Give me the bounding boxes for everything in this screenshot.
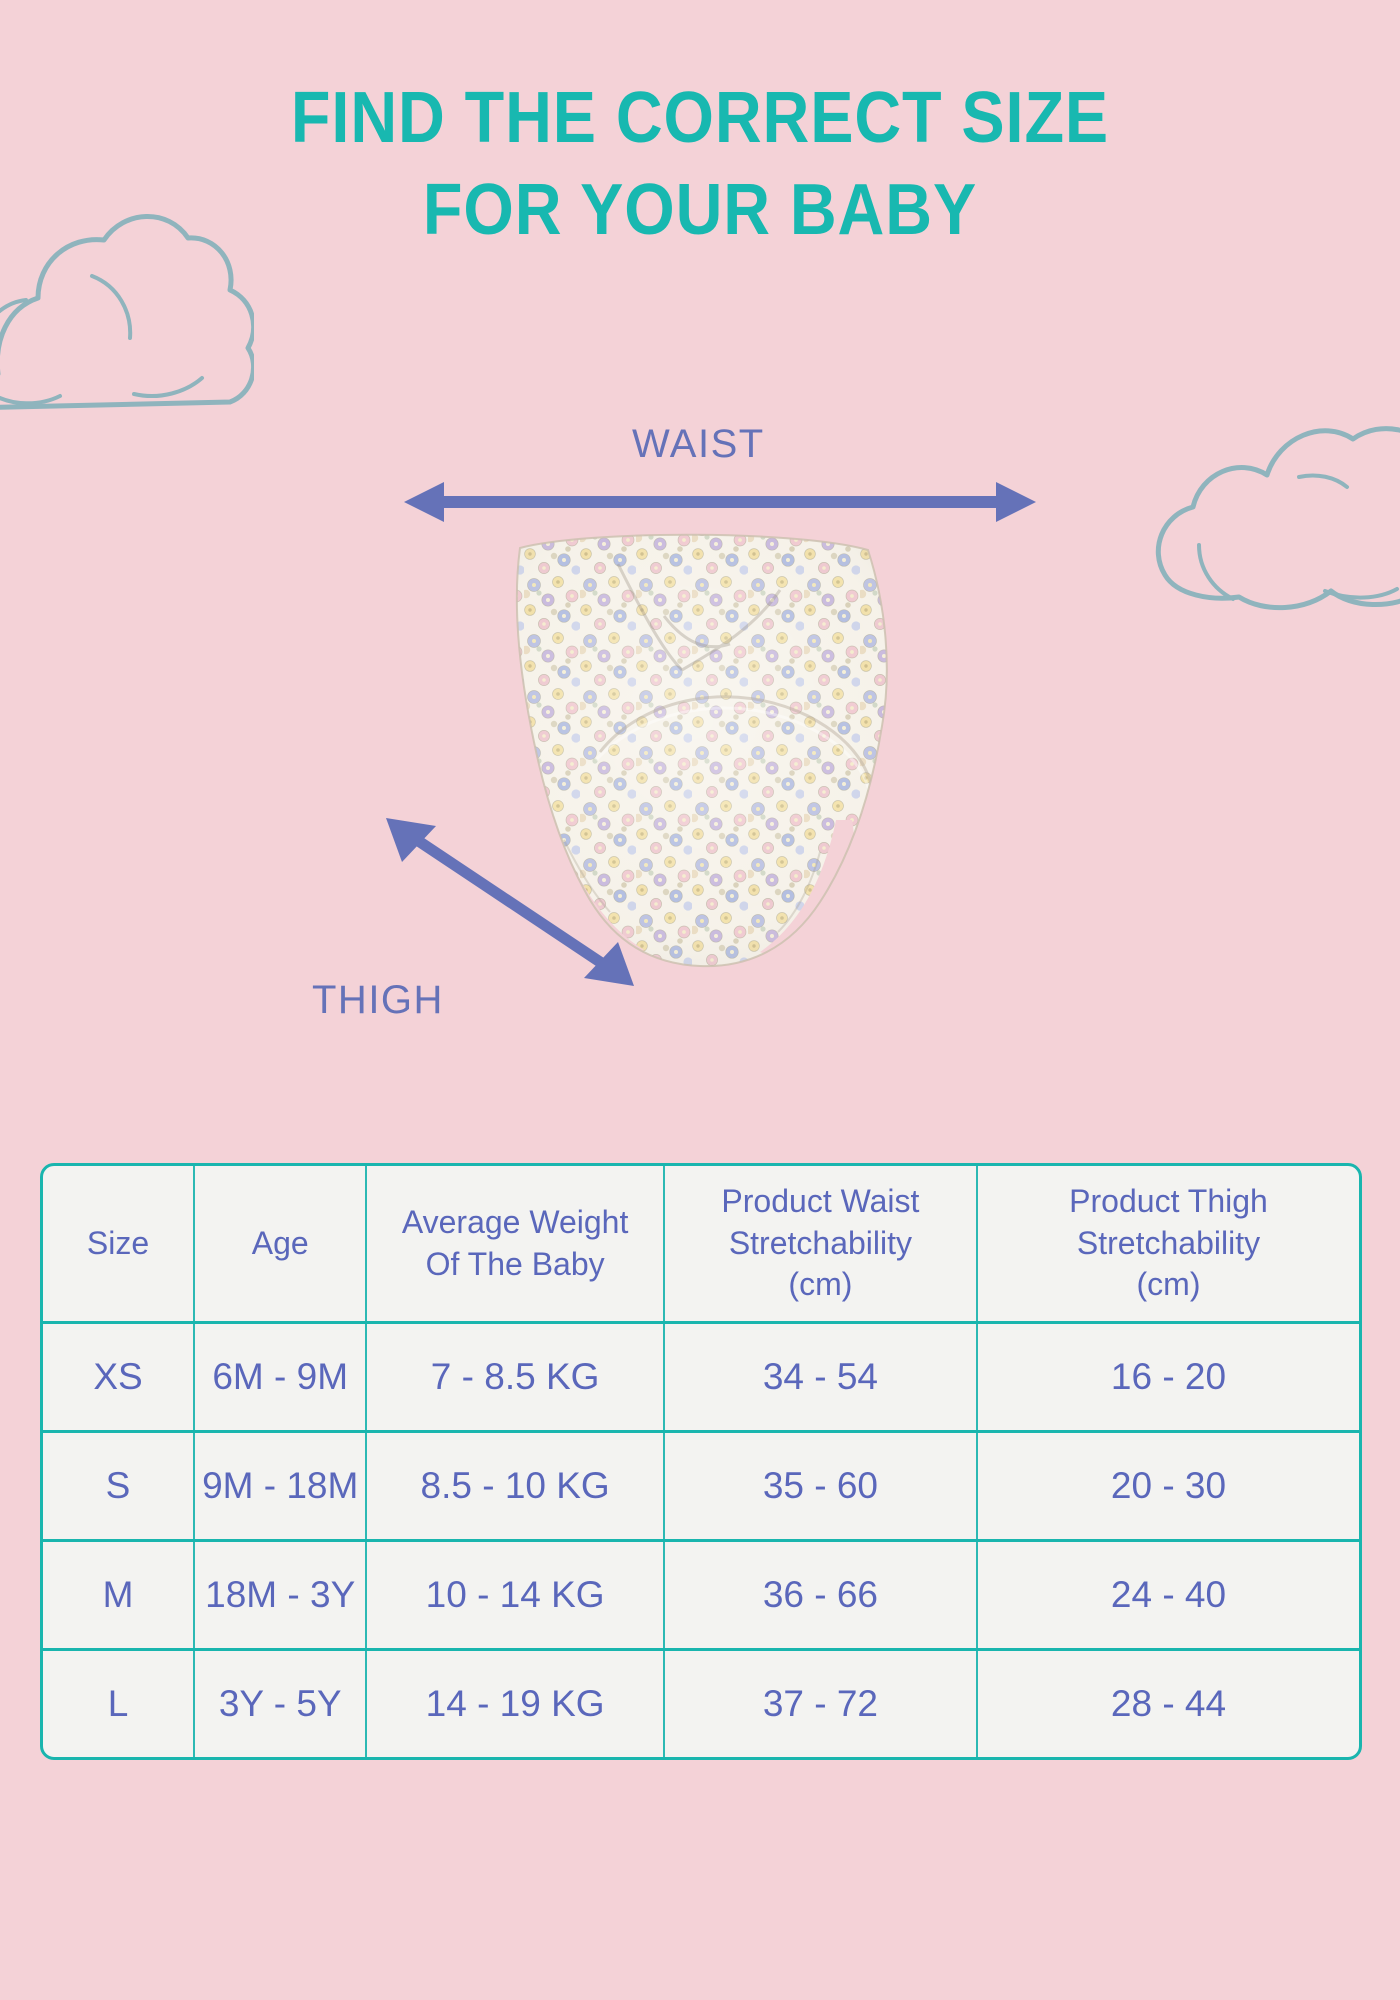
cell-waist: 34 - 54 (663, 1324, 976, 1430)
cell-weight: 7 - 8.5 KG (365, 1324, 662, 1430)
cell-waist: 36 - 66 (663, 1542, 976, 1648)
header-cell-thigh-stretch: Product Thigh Stretchability (cm) (976, 1166, 1359, 1321)
table-row: L 3Y - 5Y 14 - 19 KG 37 - 72 28 - 44 (43, 1648, 1359, 1757)
cloud-decoration-right (1155, 415, 1400, 630)
table-row: S 9M - 18M 8.5 - 10 KG 35 - 60 20 - 30 (43, 1430, 1359, 1539)
header-cell-weight: Average Weight Of The Baby (365, 1166, 662, 1321)
table-header-row: Size Age Average Weight Of The Baby Prod… (43, 1166, 1359, 1321)
cell-size: L (43, 1651, 193, 1757)
cell-age: 9M - 18M (193, 1433, 365, 1539)
thigh-label: THIGH (312, 978, 444, 1023)
product-photo-bloomer (468, 520, 918, 990)
size-chart-table: Size Age Average Weight Of The Baby Prod… (40, 1163, 1362, 1760)
cell-thigh: 20 - 30 (976, 1433, 1359, 1539)
cell-weight: 8.5 - 10 KG (365, 1433, 662, 1539)
cell-waist: 35 - 60 (663, 1433, 976, 1539)
cell-thigh: 16 - 20 (976, 1324, 1359, 1430)
header-cell-size: Size (43, 1166, 193, 1321)
cell-age: 18M - 3Y (193, 1542, 365, 1648)
title-line-2: FOR YOUR BABY (70, 164, 1330, 256)
page-title: FIND THE CORRECT SIZE FOR YOUR BABY (0, 72, 1400, 256)
header-cell-age: Age (193, 1166, 365, 1321)
header-cell-waist-stretch: Product Waist Stretchability (cm) (663, 1166, 976, 1321)
cell-size: S (43, 1433, 193, 1539)
cell-weight: 10 - 14 KG (365, 1542, 662, 1648)
cell-age: 6M - 9M (193, 1324, 365, 1430)
table-row: M 18M - 3Y 10 - 14 KG 36 - 66 24 - 40 (43, 1539, 1359, 1648)
cell-thigh: 24 - 40 (976, 1542, 1359, 1648)
waist-label: WAIST (632, 422, 765, 467)
cell-size: M (43, 1542, 193, 1648)
waist-measurement-arrow (400, 478, 1040, 526)
cell-age: 3Y - 5Y (193, 1651, 365, 1757)
table-row: XS 6M - 9M 7 - 8.5 KG 34 - 54 16 - 20 (43, 1321, 1359, 1430)
cell-thigh: 28 - 44 (976, 1651, 1359, 1757)
cell-weight: 14 - 19 KG (365, 1651, 662, 1757)
cell-waist: 37 - 72 (663, 1651, 976, 1757)
cell-size: XS (43, 1324, 193, 1430)
title-line-1: FIND THE CORRECT SIZE (70, 72, 1330, 164)
